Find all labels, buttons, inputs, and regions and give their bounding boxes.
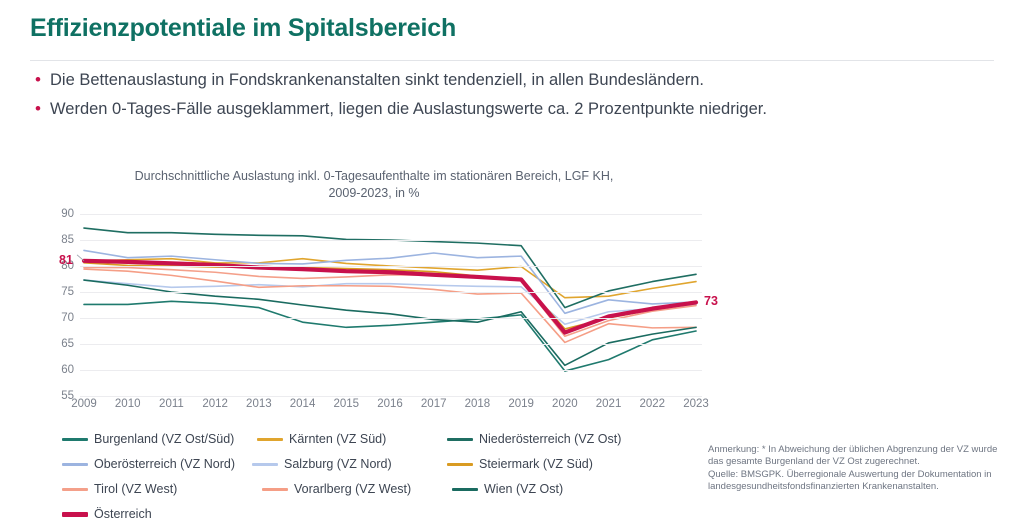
legend-swatch-icon (62, 488, 88, 491)
legend-label: Österreich (94, 507, 152, 521)
legend-label: Kärnten (VZ Süd) (289, 432, 386, 446)
bullet-text: Werden 0-Tages-Fälle ausgeklammert, lieg… (50, 99, 767, 119)
value-annotation: 81 (59, 253, 73, 267)
legend-swatch-icon (447, 438, 473, 441)
legend-swatch-icon (62, 512, 88, 517)
value-annotation: 73 (704, 294, 718, 308)
legend-item[interactable]: Vorarlberg (VZ West) (262, 482, 452, 496)
y-axis-tick-label: 70 (24, 312, 74, 324)
chart-title-line1: Durchschnittliche Auslastung inkl. 0-Tag… (24, 168, 724, 185)
legend-label: Oberösterreich (VZ Nord) (94, 457, 235, 471)
gridline (80, 396, 702, 397)
gridline (80, 370, 702, 371)
y-axis-tick-label: 60 (24, 364, 74, 376)
legend-item[interactable]: Niederösterreich (VZ Ost) (447, 432, 647, 446)
y-axis-tick-label: 65 (24, 338, 74, 350)
x-axis-tick-label: 2018 (465, 398, 491, 410)
x-axis-tick-label: 2015 (333, 398, 359, 410)
page-title: Effizienzpotentiale im Spitalsbereich (30, 14, 456, 43)
x-axis-tick-label: 2019 (508, 398, 534, 410)
legend-swatch-icon (62, 463, 88, 466)
legend-item[interactable]: Salzburg (VZ Nord) (252, 457, 447, 471)
x-axis-tick-label: 2009 (71, 398, 97, 410)
y-axis: 9085807570656055 (24, 214, 74, 396)
footnote-line-4: landesgesundheitsfondsfinanzierten Krank… (708, 481, 1008, 493)
legend-item[interactable]: Oberösterreich (VZ Nord) (62, 457, 252, 471)
x-axis: 2009201020112012201320142015201620172018… (80, 398, 702, 416)
x-axis-tick-label: 2012 (202, 398, 228, 410)
chart: Durchschnittliche Auslastung inkl. 0-Tag… (24, 168, 724, 428)
x-axis-tick-label: 2013 (246, 398, 272, 410)
gridline (80, 292, 702, 293)
chart-title-line2: 2009-2023, in % (24, 185, 724, 202)
y-axis-tick-label: 90 (24, 208, 74, 220)
legend-label: Salzburg (VZ Nord) (284, 457, 392, 471)
series-line (84, 269, 696, 342)
x-axis-tick-label: 2022 (639, 398, 665, 410)
y-axis-tick-label: 75 (24, 286, 74, 298)
legend-label: Niederösterreich (VZ Ost) (479, 432, 621, 446)
x-axis-tick-label: 2017 (421, 398, 447, 410)
legend-item[interactable]: Österreich (62, 507, 252, 521)
legend-item[interactable]: Tirol (VZ West) (62, 482, 262, 496)
plot-area (80, 214, 702, 396)
legend-label: Wien (VZ Ost) (484, 482, 563, 496)
chart-lines (80, 214, 702, 396)
footnote-line-2: das gesamte Burgenland der VZ Ost zugere… (708, 456, 1008, 468)
bullet-marker-icon: • (32, 99, 50, 119)
y-axis-tick-label: 85 (24, 234, 74, 246)
series-line (84, 301, 696, 371)
list-item: • Werden 0-Tages-Fälle ausgeklammert, li… (32, 99, 992, 119)
y-axis-tick-label: 55 (24, 390, 74, 402)
legend-item[interactable]: Wien (VZ Ost) (452, 482, 647, 496)
legend-swatch-icon (62, 438, 88, 441)
x-axis-tick-label: 2020 (552, 398, 578, 410)
x-axis-tick-label: 2023 (683, 398, 709, 410)
legend-swatch-icon (252, 463, 278, 466)
legend-label: Steiermark (VZ Süd) (479, 457, 593, 471)
gridline (80, 344, 702, 345)
gridline (80, 318, 702, 319)
footnote-line-3: Quelle: BMSGPK. Überregionale Auswertung… (708, 469, 1008, 481)
x-axis-tick-label: 2016 (377, 398, 403, 410)
legend-label: Tirol (VZ West) (94, 482, 177, 496)
bullet-list: • Die Bettenauslastung in Fondskrankenan… (32, 70, 992, 128)
legend-label: Burgenland (VZ Ost/Süd) (94, 432, 234, 446)
legend-item[interactable]: Steiermark (VZ Süd) (447, 457, 637, 471)
legend-swatch-icon (447, 463, 473, 466)
legend-swatch-icon (452, 488, 478, 491)
header-divider (30, 60, 994, 61)
x-axis-tick-label: 2014 (290, 398, 316, 410)
gridline (80, 240, 702, 241)
x-axis-tick-label: 2010 (115, 398, 141, 410)
gridline (80, 266, 702, 267)
slide-root: Effizienzpotentiale im Spitalsbereich • … (0, 0, 1024, 512)
x-axis-tick-label: 2011 (159, 398, 184, 410)
legend-item[interactable]: Burgenland (VZ Ost/Süd) (62, 432, 257, 446)
legend-swatch-icon (257, 438, 283, 441)
bullet-marker-icon: • (32, 70, 50, 90)
chart-title: Durchschnittliche Auslastung inkl. 0-Tag… (24, 168, 724, 202)
legend-swatch-icon (262, 488, 288, 491)
x-axis-tick-label: 2021 (596, 398, 622, 410)
annotation-leader (77, 255, 84, 261)
chart-legend: Burgenland (VZ Ost/Süd)Kärnten (VZ Süd)N… (62, 432, 702, 532)
bullet-text: Die Bettenauslastung in Fondskrankenanst… (50, 70, 704, 90)
legend-item[interactable]: Kärnten (VZ Süd) (257, 432, 447, 446)
gridline (80, 214, 702, 215)
footnote: Anmerkung: * In Abweichung der üblichen … (708, 444, 1008, 494)
list-item: • Die Bettenauslastung in Fondskrankenan… (32, 70, 992, 90)
footnote-line-1: Anmerkung: * In Abweichung der üblichen … (708, 444, 1008, 456)
legend-label: Vorarlberg (VZ West) (294, 482, 411, 496)
